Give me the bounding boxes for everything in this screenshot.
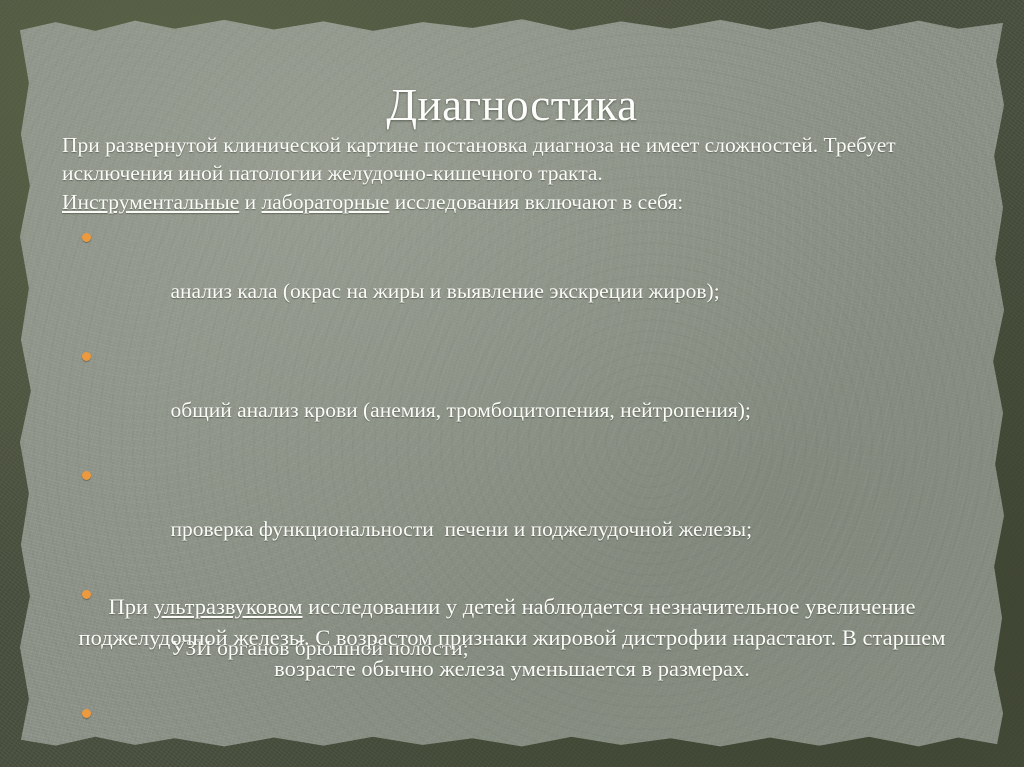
bullet-dot-icon [82, 709, 91, 718]
bullet-dot-icon [82, 233, 91, 242]
bullet-dot-icon [82, 471, 91, 480]
instrumental-term: Инструментальные [62, 190, 239, 214]
diagnostics-bullet-list: анализ кала (окрас на жиры и выявление э… [62, 223, 952, 767]
lead-conjunction: и [239, 190, 261, 214]
laboratory-term: лабораторные [262, 190, 390, 214]
ultrasound-term: ультразвуковом [154, 594, 303, 619]
list-item-label: рентгенография костей (в 10-25% случаев … [171, 755, 875, 767]
list-item-label: общий анализ крови (анемия, тромбоцитопе… [171, 398, 751, 422]
paper-sheet: Диагностика При развернутой клинической … [16, 17, 1008, 750]
list-item: общий анализ крови (анемия, тромбоцитопе… [62, 342, 952, 452]
bullet-dot-icon [82, 352, 91, 361]
list-item: рентгенография костей (в 10-25% случаев … [62, 699, 952, 767]
lead-suffix: исследования включают в себя: [389, 190, 683, 214]
list-item-label: проверка функциональности печени и подже… [171, 517, 753, 541]
slide-content: Диагностика При развернутой клинической … [16, 17, 1008, 750]
page-title: Диагностика [16, 77, 1008, 133]
slide-frame: Диагностика При развернутой клинической … [0, 0, 1024, 767]
list-item: анализ кала (окрас на жиры и выявление э… [62, 223, 952, 333]
closing-paragraph: При ультразвуковом исследовании у детей … [62, 591, 962, 684]
list-item: проверка функциональности печени и подже… [62, 461, 952, 571]
studies-lead-line: Инструментальные и лабораторные исследов… [62, 189, 952, 217]
closing-prefix: При [109, 594, 154, 619]
intro-paragraph: При развернутой клинической картине пост… [62, 132, 952, 187]
list-item-label: анализ кала (окрас на жиры и выявление э… [171, 279, 720, 303]
